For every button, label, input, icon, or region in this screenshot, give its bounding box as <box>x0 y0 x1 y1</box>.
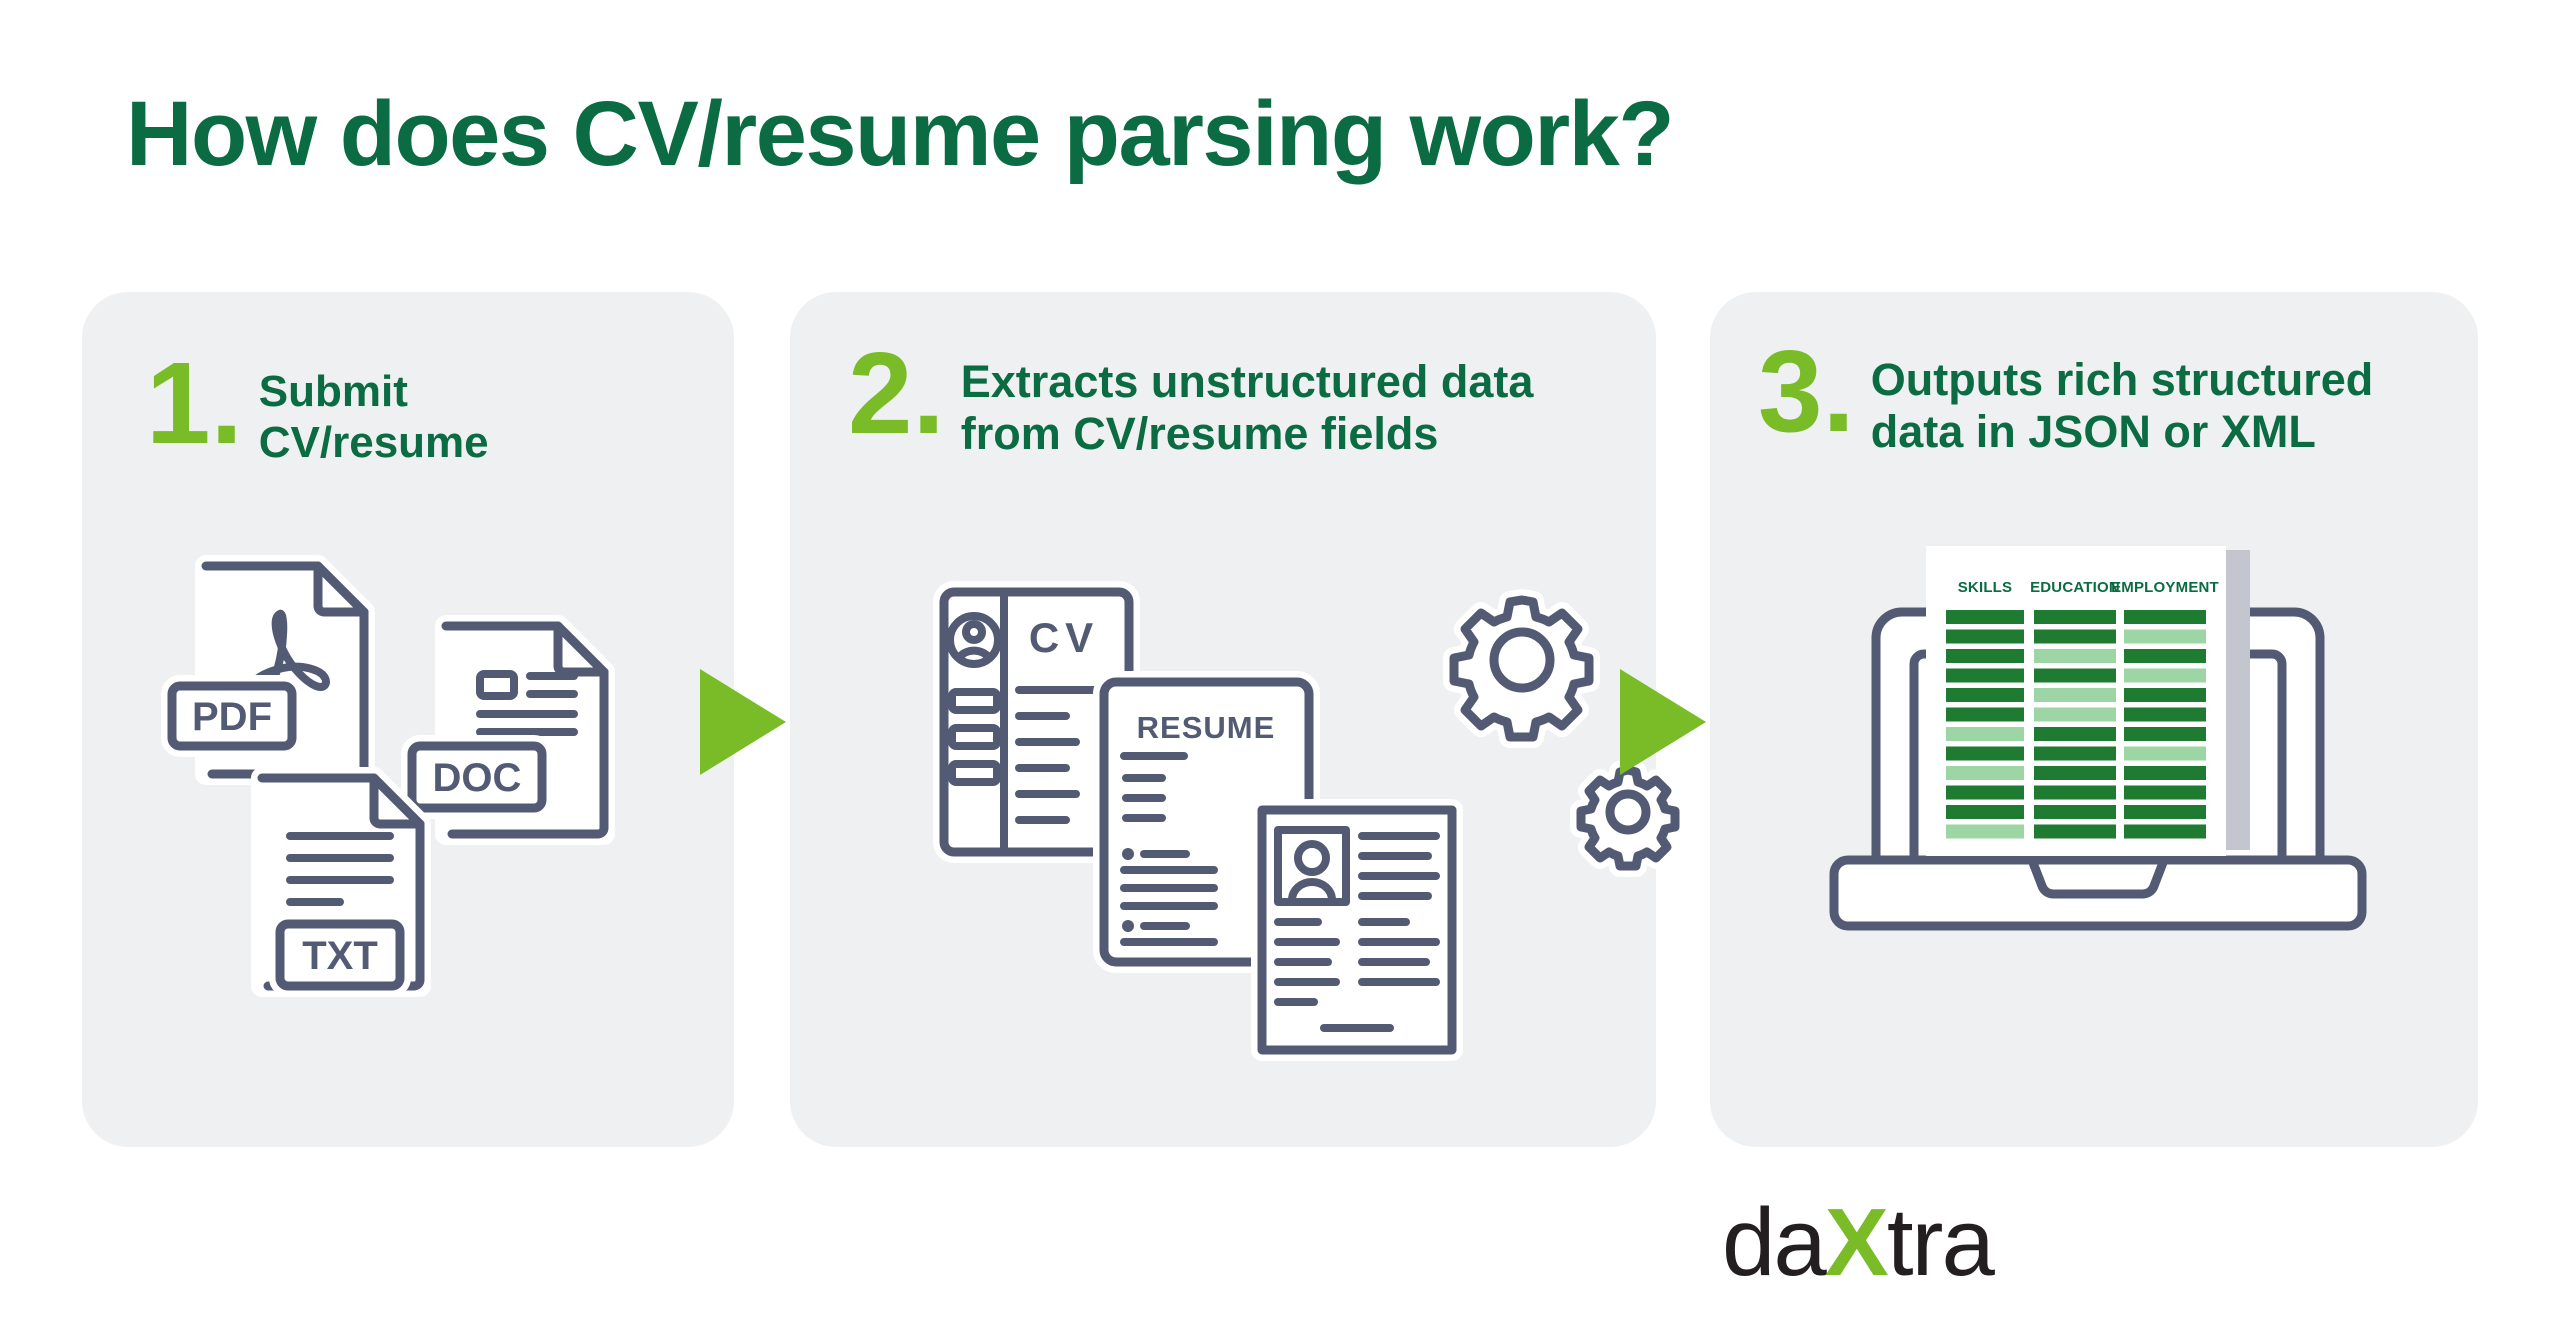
gear-large-icon <box>1454 600 1589 737</box>
gear-small-icon <box>1581 770 1675 866</box>
data-bar <box>2034 610 2116 624</box>
data-bar <box>2124 747 2206 761</box>
file-types-illustration: PDF DOC <box>168 554 638 1014</box>
txt-label: TXT <box>302 934 378 978</box>
step-1-number: 1. <box>146 354 243 454</box>
step-2-number: 2. <box>848 344 945 444</box>
sheet-column-headers: SKILLSEDUCATIONEMPLOYMENT <box>1958 579 2219 596</box>
data-bar <box>2124 727 2206 741</box>
structured-output-illustration: SKILLSEDUCATIONEMPLOYMENT <box>1818 530 2378 950</box>
data-bar <box>1946 747 2024 761</box>
data-bar <box>1946 786 2024 800</box>
data-bar <box>2034 747 2116 761</box>
step-3-heading: 3. Outputs rich structured data in JSON … <box>1758 342 2373 458</box>
data-bar <box>2034 630 2116 644</box>
page-title: How does CV/resume parsing work? <box>126 88 1673 180</box>
cv-label: CV <box>1029 614 1099 661</box>
arrow-step1-to-step2 <box>700 669 786 775</box>
step-1-heading: 1. Submit CV/resume <box>146 354 489 468</box>
data-bar <box>2124 766 2206 780</box>
doc-label: DOC <box>433 756 522 800</box>
step-2-heading: 2. Extracts unstructured data from CV/re… <box>848 344 1533 460</box>
data-bar <box>1946 825 2024 839</box>
data-bar <box>1946 805 2024 819</box>
step-1-label: Submit CV/resume <box>259 354 489 468</box>
data-bar <box>1946 669 2024 683</box>
doc-file-icon: DOC <box>412 626 604 834</box>
data-bar <box>2124 688 2206 702</box>
column-header-skills: SKILLS <box>1958 579 2013 596</box>
step-3-label: Outputs rich structured data in JSON or … <box>1871 342 2374 458</box>
structured-data-sheet: SKILLSEDUCATIONEMPLOYMENT <box>1926 546 2250 856</box>
pdf-file-icon: PDF <box>172 566 364 774</box>
resume-label: RESUME <box>1137 710 1276 745</box>
logo-x-icon: X <box>1825 1189 1887 1296</box>
data-bar <box>2124 825 2206 839</box>
data-bar <box>2034 805 2116 819</box>
step-card-2: 2. Extracts unstructured data from CV/re… <box>790 292 1656 1147</box>
data-bar <box>2034 649 2116 663</box>
data-bar <box>2124 669 2206 683</box>
logo-part-1: da <box>1722 1189 1825 1296</box>
daxtra-logo: daXtra <box>1722 1195 1993 1291</box>
data-bar <box>2034 727 2116 741</box>
data-bar <box>1946 610 2024 624</box>
data-bar <box>2124 630 2206 644</box>
logo-part-2: tra <box>1887 1189 1993 1296</box>
pdf-label: PDF <box>192 695 272 739</box>
data-bar <box>2124 708 2206 722</box>
data-bar <box>1946 708 2024 722</box>
data-bar <box>2124 610 2206 624</box>
data-bar <box>2034 766 2116 780</box>
data-bar <box>1946 727 2024 741</box>
data-bar <box>2124 649 2206 663</box>
data-bar <box>1946 649 2024 663</box>
arrow-step2-to-step3 <box>1620 669 1706 775</box>
data-bar <box>2034 688 2116 702</box>
data-bar <box>1946 630 2024 644</box>
data-bar <box>2124 805 2206 819</box>
column-header-education: EDUCATION <box>2030 579 2120 596</box>
step-3-number: 3. <box>1758 342 1855 442</box>
data-bar <box>2034 708 2116 722</box>
step-card-3: 3. Outputs rich structured data in JSON … <box>1710 292 2478 1147</box>
data-bar <box>1946 688 2024 702</box>
data-bar <box>2034 786 2116 800</box>
data-bar <box>2034 669 2116 683</box>
data-bar <box>2124 786 2206 800</box>
txt-file-icon: TXT <box>262 778 420 986</box>
data-bar <box>2034 825 2116 839</box>
infographic-canvas: How does CV/resume parsing work? 1. Subm… <box>0 0 2560 1340</box>
step-card-1: 1. Submit CV/resume PDF <box>82 292 734 1147</box>
profile-resume-icon <box>1262 810 1452 1050</box>
extraction-illustration: CV RESUME <box>814 570 1634 1060</box>
column-header-employment: EMPLOYMENT <box>2111 579 2219 596</box>
data-bar <box>1946 766 2024 780</box>
step-2-label: Extracts unstructured data from CV/resum… <box>961 344 1534 460</box>
